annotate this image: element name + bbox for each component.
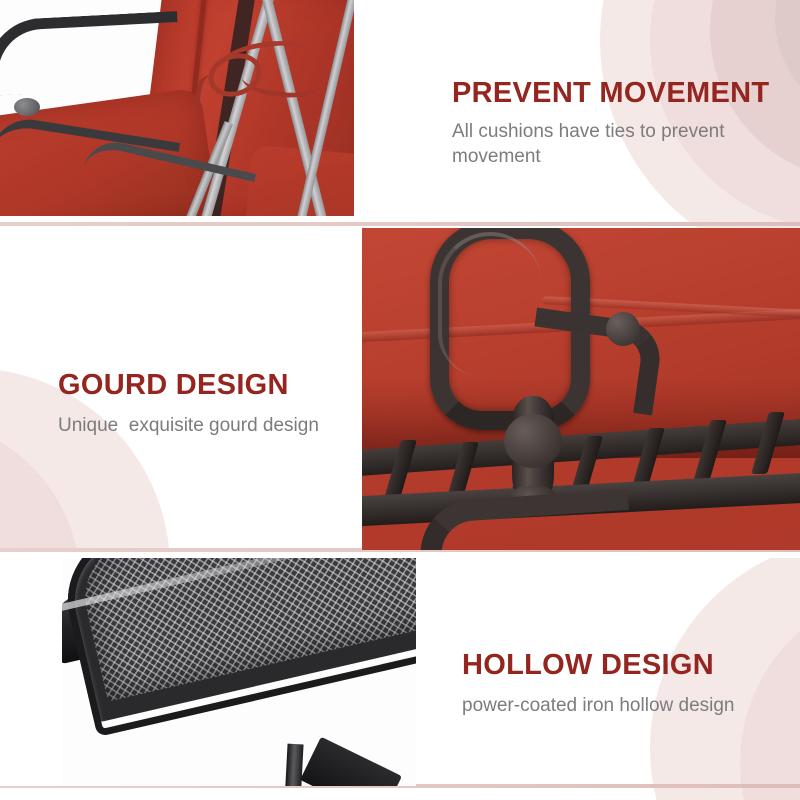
headline-gourd-design: GOURD DESIGN [58, 370, 368, 400]
headline-prevent-movement: PREVENT MOVEMENT [452, 78, 782, 108]
text-block-prevent-movement: PREVENT MOVEMENT All cushions have ties … [452, 78, 782, 170]
panel-prevent-movement: PREVENT MOVEMENT All cushions have ties … [0, 0, 800, 228]
photo-mesh-table [0, 558, 416, 786]
subline-hollow-design: power-coated iron hollow design [462, 694, 792, 719]
panel-hollow-design: HOLLOW DESIGN power-coated iron hollow d… [0, 558, 800, 800]
text-block-gourd-design: GOURD DESIGN Unique exquisite gourd desi… [58, 370, 368, 439]
panel-gourd-design: GOURD DESIGN Unique exquisite gourd desi… [0, 228, 800, 550]
photo-gourd-armrest [362, 228, 800, 550]
headline-hollow-design: HOLLOW DESIGN [462, 650, 792, 680]
subline-gourd-design: Unique exquisite gourd design [58, 414, 368, 439]
text-block-hollow-design: HOLLOW DESIGN power-coated iron hollow d… [462, 650, 792, 719]
photo-cushion-ties [0, 0, 406, 216]
divider-one [0, 222, 800, 226]
product-feature-infographic: PREVENT MOVEMENT All cushions have ties … [0, 0, 800, 800]
subline-prevent-movement: All cushions have ties to prevent moveme… [452, 120, 782, 169]
